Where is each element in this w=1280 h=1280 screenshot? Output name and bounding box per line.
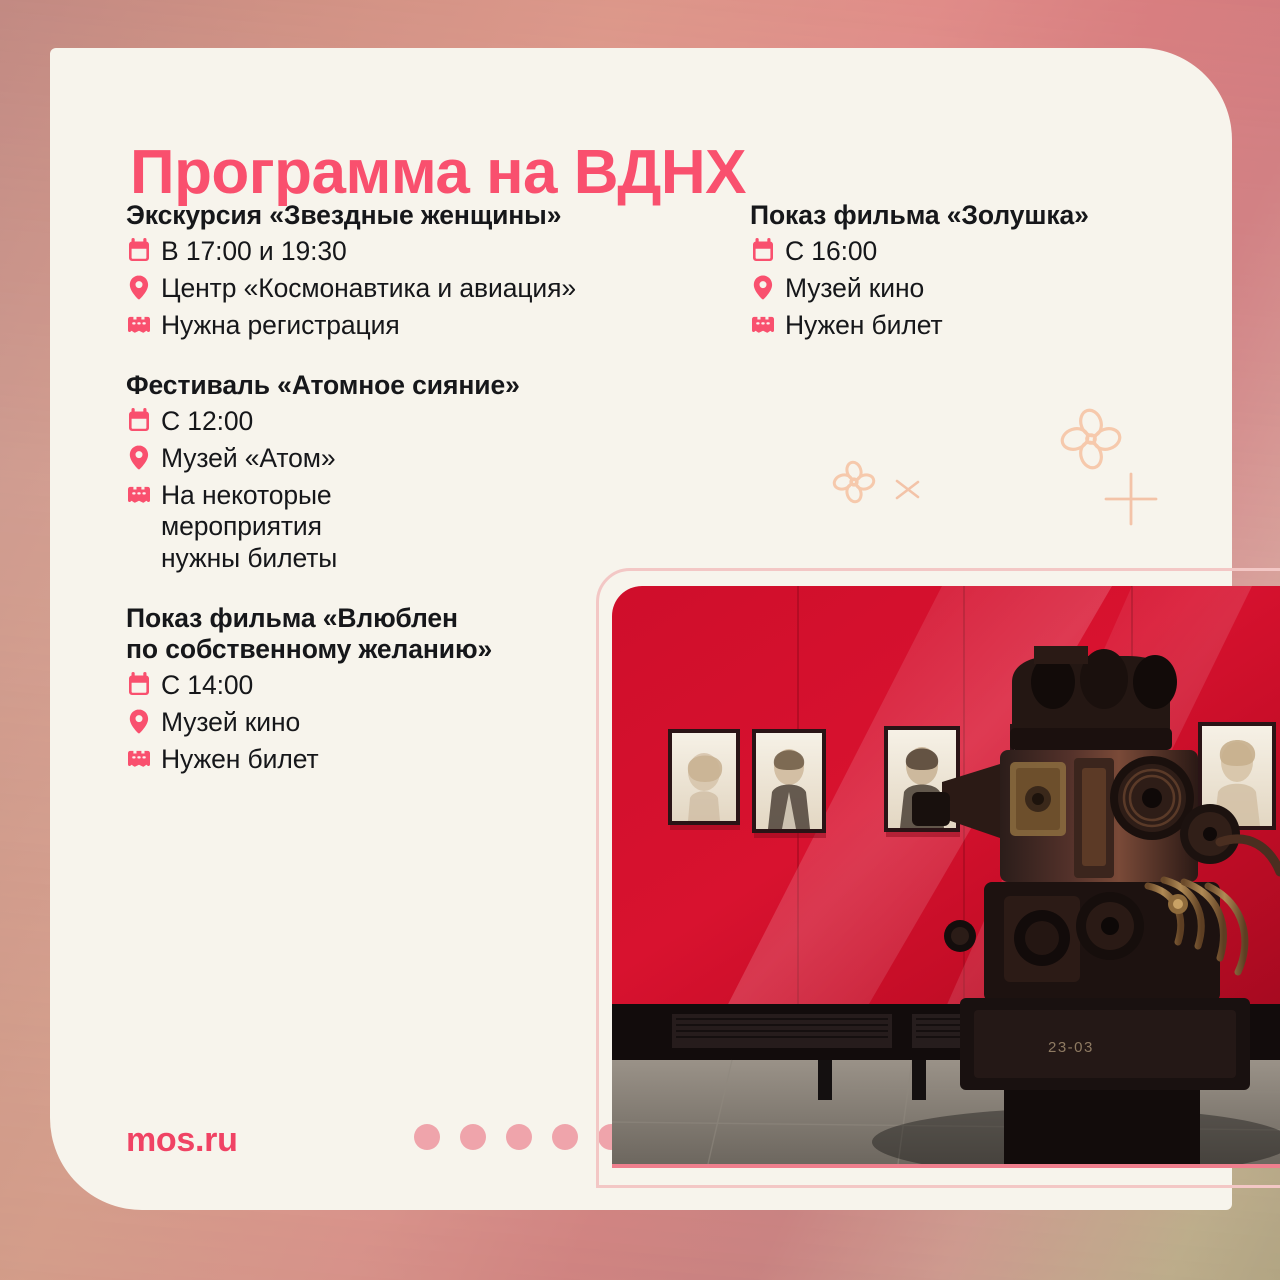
ticket-icon <box>126 481 152 511</box>
location-pin-icon <box>126 708 152 738</box>
event-detail-text: С 14:00 <box>161 670 253 702</box>
page-title: Программа на ВДНХ <box>130 140 746 205</box>
event-detail-row: С 12:00 <box>126 406 726 438</box>
location-pin-icon <box>750 274 776 304</box>
poster-canvas: Программа на ВДНХ Экскурсия «Звездные же… <box>0 0 1280 1280</box>
events-column-right: Показ фильма «Золушка» С 16:00 Музей кин… <box>750 200 1200 342</box>
event-title: Экскурсия «Звездные женщины» <box>126 200 726 231</box>
page-dot[interactable] <box>506 1124 532 1150</box>
event-detail-text: Нужна регистрация <box>161 310 400 342</box>
sparkle-icon <box>1100 468 1162 535</box>
location-pin-icon <box>126 274 152 304</box>
calendar-icon <box>126 671 152 701</box>
calendar-icon <box>750 237 776 267</box>
event-detail-row: На некоторые мероприятия нужны билеты <box>126 480 726 575</box>
event-title: Фестиваль «Атомное сияние» <box>126 370 726 401</box>
event-detail-text: На некоторые мероприятия нужны билеты <box>161 480 337 575</box>
event-detail-text: Музей «Атом» <box>161 443 336 475</box>
event-card: Фестиваль «Атомное сияние» С 12:00 Музей… <box>126 370 726 575</box>
page-dot[interactable] <box>460 1124 486 1150</box>
event-detail-text: В 17:00 и 19:30 <box>161 236 347 268</box>
ticket-icon <box>126 745 152 775</box>
museum-photo-illustration: 23-03 <box>612 586 1280 1164</box>
event-detail-row: Нужна регистрация <box>126 310 726 342</box>
calendar-icon <box>126 407 152 437</box>
event-detail-row: Центр «Космонавтика и авиация» <box>126 273 726 305</box>
event-title: Показ фильма «Золушка» <box>750 200 1200 231</box>
ticket-icon <box>750 311 776 341</box>
event-detail-text: Нужен билет <box>785 310 943 342</box>
calendar-icon <box>126 237 152 267</box>
event-detail-row: Музей кино <box>750 273 1200 305</box>
event-card: Экскурсия «Звездные женщины» В 17:00 и 1… <box>126 200 726 342</box>
ticket-icon <box>126 311 152 341</box>
event-detail-row: С 16:00 <box>750 236 1200 268</box>
event-detail-row: Музей «Атом» <box>126 443 726 475</box>
event-detail-text: С 12:00 <box>161 406 253 438</box>
page-indicator-dots <box>414 1124 624 1150</box>
event-detail-row: В 17:00 и 19:30 <box>126 236 726 268</box>
event-detail-text: Музей кино <box>161 707 300 739</box>
page-dot[interactable] <box>414 1124 440 1150</box>
location-pin-icon <box>126 444 152 474</box>
museum-photo: 23-03 <box>612 586 1280 1168</box>
event-detail-text: Центр «Космонавтика и авиация» <box>161 273 576 305</box>
event-detail-text: Музей кино <box>785 273 924 305</box>
flower-icon <box>830 458 878 511</box>
sparkle-icon <box>888 470 928 515</box>
event-detail-text: Нужен билет <box>161 744 319 776</box>
flower-icon <box>1056 404 1126 479</box>
event-detail-row: Нужен билет <box>750 310 1200 342</box>
event-card: Показ фильма «Золушка» С 16:00 Музей кин… <box>750 200 1200 342</box>
mosru-logo[interactable]: mos.ru <box>126 1121 238 1160</box>
page-dot[interactable] <box>552 1124 578 1150</box>
event-detail-text: С 16:00 <box>785 236 877 268</box>
svg-text:23-03: 23-03 <box>1048 1039 1094 1056</box>
